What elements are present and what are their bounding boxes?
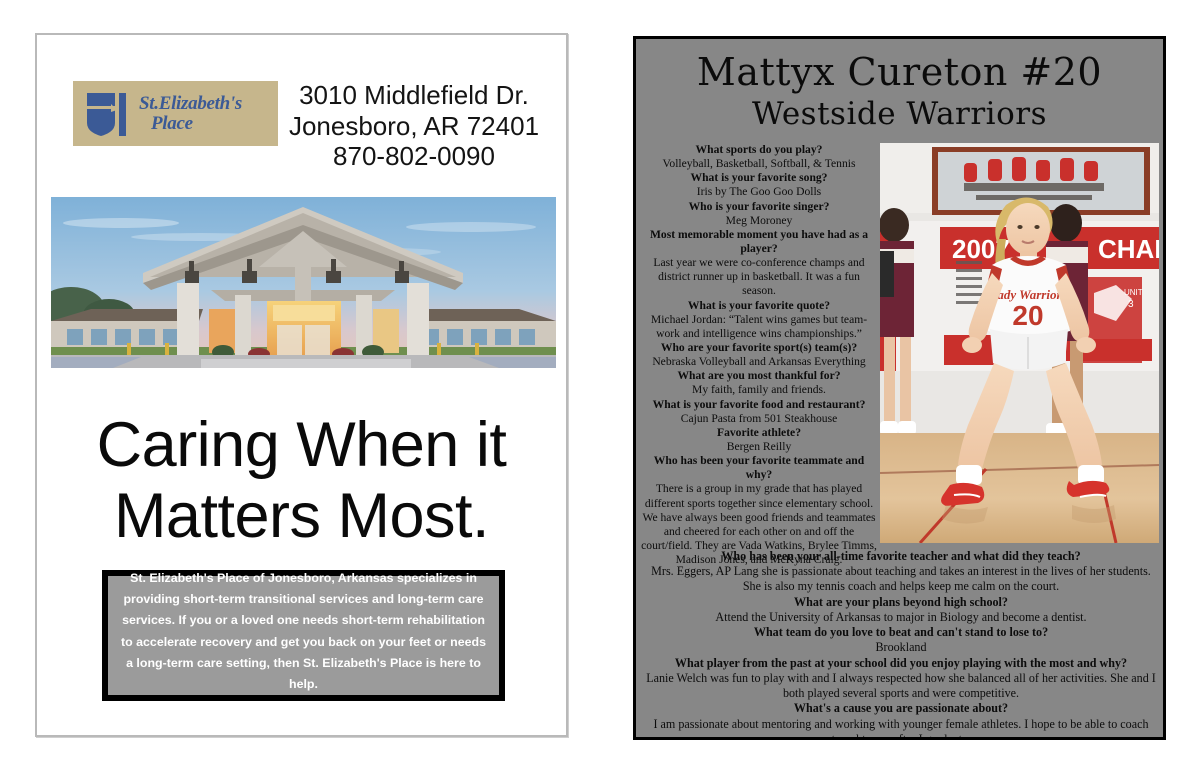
svg-text:UNIT: UNIT: [1124, 288, 1143, 297]
description-callout-box: St. Elizabeth's Place of Jonesboro, Arka…: [102, 570, 505, 701]
qa-answer: Volleyball, Basketball, Softball, & Tenn…: [640, 157, 878, 171]
qa-answer: Lanie Welch was fun to play with and I a…: [646, 671, 1156, 701]
logo-line-2: Place: [139, 114, 242, 134]
qa-question: What is your favorite food and restauran…: [640, 398, 878, 412]
qa-lower-section: Who has been your all-time favorite teac…: [646, 549, 1156, 740]
qa-question: Who are your favorite sport(s) team(s)?: [640, 341, 878, 355]
qa-answer: Last year we were co-conference champs a…: [640, 256, 878, 298]
qa-answer: Michael Jordan: “Talent wins games but t…: [640, 313, 878, 341]
qa-question: What player from the past at your school…: [646, 656, 1156, 671]
qa-answer: Cajun Pasta from 501 Steakhouse: [640, 412, 878, 426]
qa-answer: My faith, family and friends.: [640, 383, 878, 397]
qa-question: What team do you love to beat and can't …: [646, 625, 1156, 640]
address-phone: 870-802-0090: [285, 141, 543, 172]
description-text: St. Elizabeth's Place of Jonesboro, Arka…: [108, 568, 499, 704]
qa-question: Who has been your all-time favorite teac…: [646, 549, 1156, 564]
qa-upper-section: What sports do you play?Volleyball, Bask…: [636, 143, 1163, 548]
right-page-player-profile: Mattyx Cureton #20 Westside Warriors Wha…: [633, 36, 1166, 740]
qa-answer: Nebraska Volleyball and Arkansas Everyth…: [640, 355, 878, 369]
qa-answer: Bergen Reilly: [640, 440, 878, 454]
qa-answer: Attend the University of Arkansas to maj…: [646, 610, 1156, 625]
logo-line-1: St.Elizabeth's: [139, 93, 242, 114]
qa-question: What is your favorite song?: [640, 171, 878, 185]
team-name-heading: Westside Warriors: [636, 99, 1163, 130]
logo-wordmark: St.Elizabeth's Place: [139, 94, 242, 134]
svg-text:3: 3: [1128, 299, 1134, 310]
shield-logo-icon: [85, 90, 131, 138]
qa-answer: Mrs. Eggers, AP Lang she is passionate a…: [646, 564, 1156, 594]
left-page-advertisement: St.Elizabeth's Place 3010 Middlefield Dr…: [35, 33, 568, 737]
st-elizabeths-logo: St.Elizabeth's Place: [73, 81, 278, 146]
qa-question: Most memorable moment you have had as a …: [640, 228, 878, 256]
brand-header-row: St.Elizabeth's Place 3010 Middlefield Dr…: [37, 35, 566, 165]
address-block: 3010 Middlefield Dr. Jonesboro, AR 72401…: [285, 80, 543, 172]
building-exterior-photo: [51, 197, 556, 368]
address-city-state-zip: Jonesboro, AR 72401: [285, 111, 543, 142]
svg-text:20: 20: [1012, 300, 1043, 331]
qa-question: Who is your favorite singer?: [640, 200, 878, 214]
qa-question: What are your plans beyond high school?: [646, 595, 1156, 610]
svg-text:CHAM: CHAM: [1098, 234, 1159, 264]
headline-line-2: Matters Most.: [37, 481, 566, 552]
qa-column-left: What sports do you play?Volleyball, Bask…: [640, 143, 878, 567]
address-street: 3010 Middlefield Dr.: [285, 80, 543, 111]
qa-answer: Iris by The Goo Goo Dolls: [640, 185, 878, 199]
qa-answer: Meg Moroney: [640, 214, 878, 228]
qa-question: What are you most thankful for?: [640, 369, 878, 383]
player-action-photo: 2007 CHAM UNIT 3: [880, 143, 1159, 543]
qa-answer: Brookland: [646, 640, 1156, 655]
qa-answer: I am passionate about mentoring and work…: [646, 717, 1156, 740]
qa-question: Who has been your favorite teammate and …: [640, 454, 878, 482]
qa-question: What is your favorite quote?: [640, 299, 878, 313]
headline-line-1: Caring When it: [37, 410, 566, 481]
qa-question: Favorite athlete?: [640, 426, 878, 440]
qa-question: What's a cause you are passionate about?: [646, 701, 1156, 716]
qa-question: What sports do you play?: [640, 143, 878, 157]
page-headline: Caring When it Matters Most.: [37, 410, 566, 551]
player-name-heading: Mattyx Cureton #20: [636, 53, 1163, 91]
